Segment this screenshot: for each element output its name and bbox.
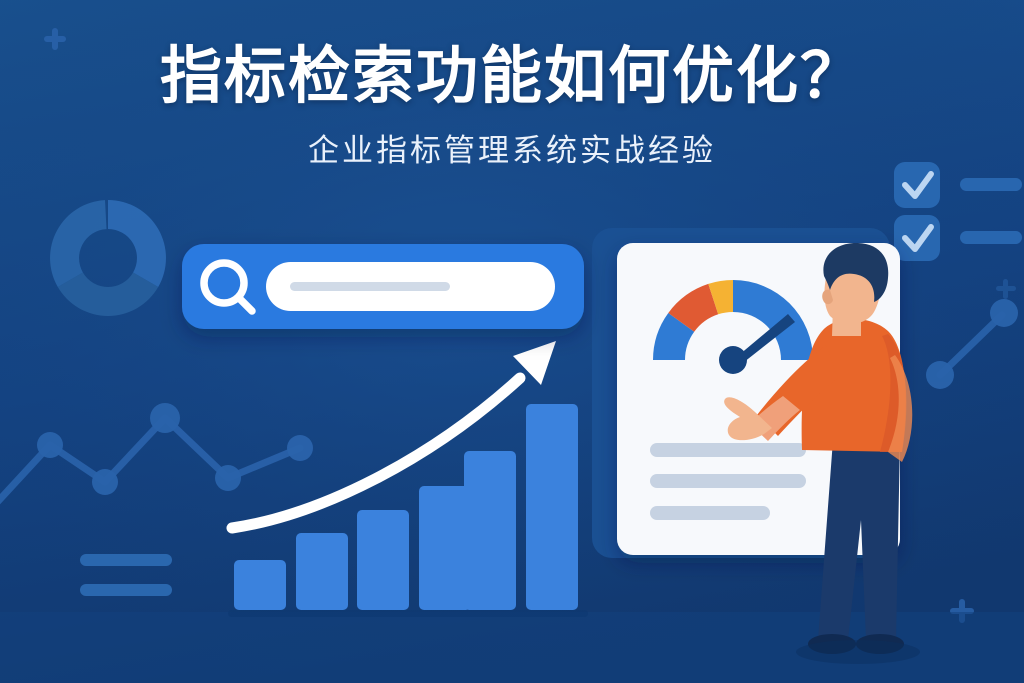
card-text-line-2 <box>650 474 806 488</box>
bar-chart-baseline <box>228 610 588 617</box>
page-subtitle: 企业指标管理系统实战经验 <box>0 125 1024 170</box>
bar-2 <box>296 533 348 610</box>
person-shadow <box>796 640 920 664</box>
card-text-line-1 <box>650 443 806 457</box>
bar-3 <box>357 510 409 610</box>
search-placeholder-line <box>290 282 450 291</box>
search-bar[interactable] <box>182 244 584 329</box>
bar-1 <box>234 560 286 610</box>
bar-chart <box>228 404 588 617</box>
bar-5 <box>464 451 516 610</box>
page-title: 指标检索功能如何优化？ <box>0 44 1024 111</box>
poster-canvas: 指标检索功能如何优化？ 企业指标管理系统实战经验 <box>0 0 1024 683</box>
bar-4 <box>419 486 471 610</box>
gauge-hub <box>719 346 747 374</box>
bar-6 <box>526 404 578 610</box>
card-text-line-3 <box>650 506 770 520</box>
header-block: 指标检索功能如何优化？ 企业指标管理系统实战经验 <box>0 44 1024 170</box>
